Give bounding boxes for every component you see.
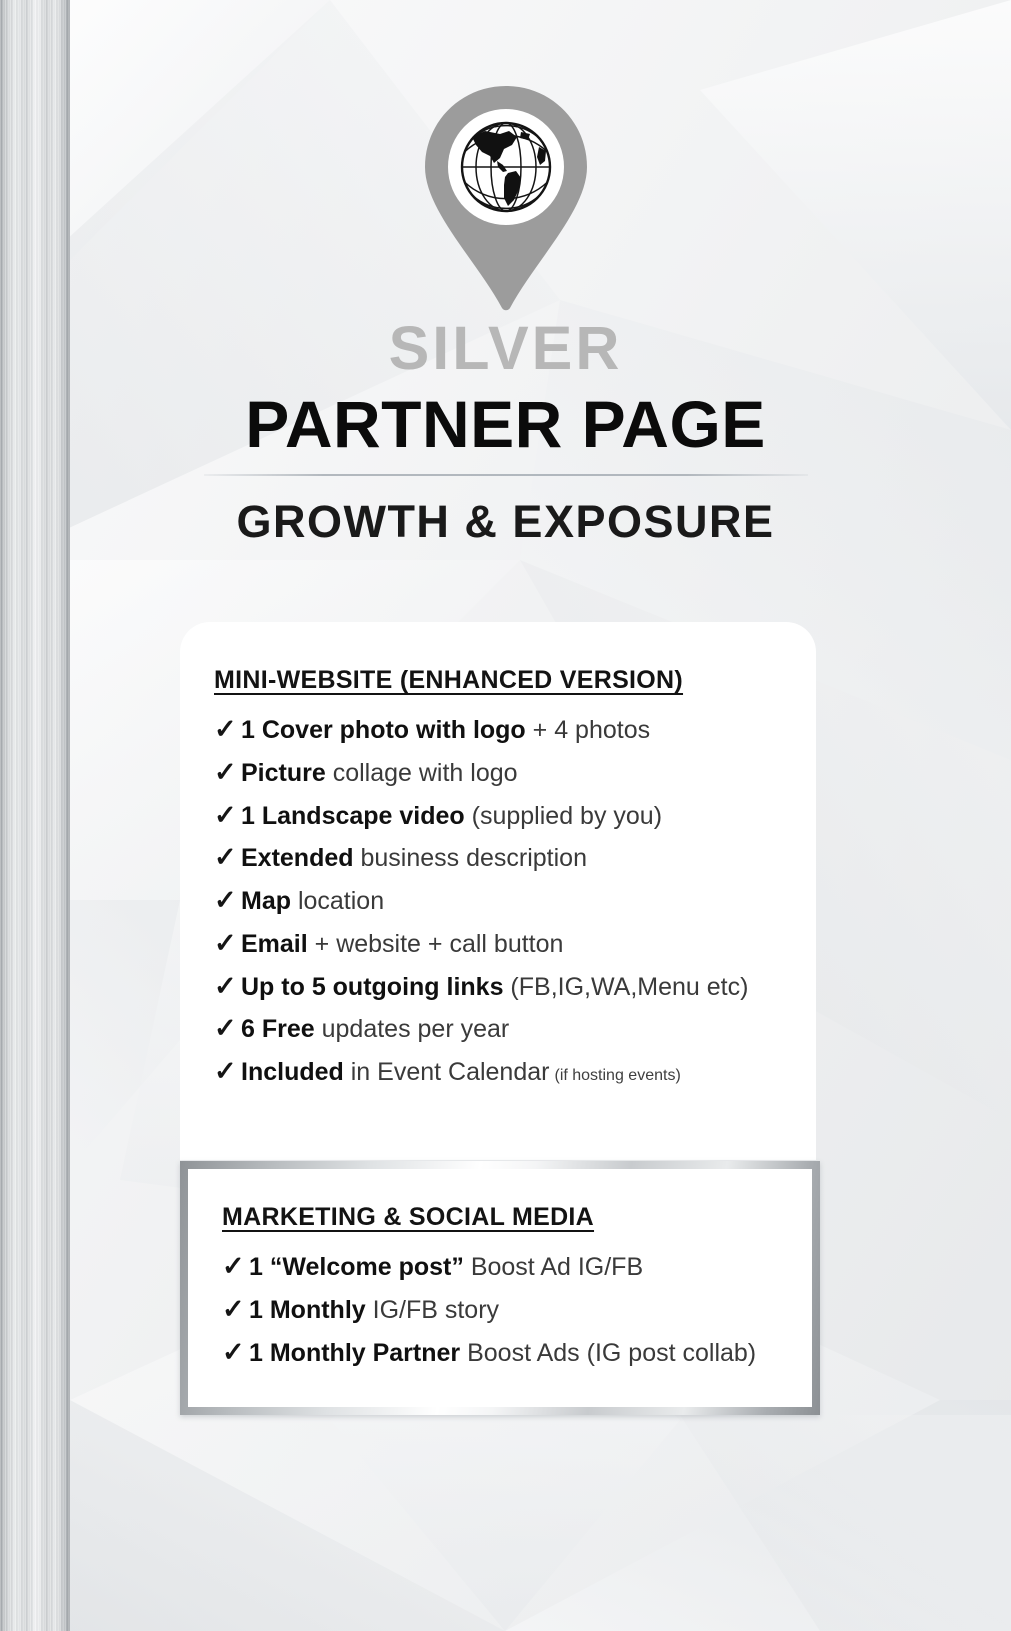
feature-rest: Boost Ads (IG post collab) [460, 1339, 756, 1367]
feature-strong: 1 Landscape video [241, 802, 465, 830]
list-item: ✓ Included in Event Calendar(if hosting … [214, 1051, 816, 1094]
feature-strong: 1 Monthly [249, 1296, 366, 1324]
page-title: PARTNER PAGE [0, 386, 1011, 464]
feature-strong: Map [241, 887, 291, 915]
mini-website-card: MINI-WEBSITE (ENHANCED VERSION) ✓ 1 Cove… [180, 622, 816, 1160]
marketing-card-frame: MARKETING & SOCIAL MEDIA ✓ 1 “Welcome po… [180, 1161, 820, 1415]
feature-strong: Picture [241, 759, 326, 787]
feature-rest: updates per year [315, 1015, 510, 1043]
check-icon: ✓ [214, 930, 241, 957]
feature-rest: (FB,IG,WA,Menu etc) [503, 973, 748, 1001]
map-pin-globe-icon [406, 82, 606, 314]
check-icon: ✓ [214, 887, 241, 914]
feature-rest: + website + call button [308, 930, 564, 958]
feature-strong: 1 Cover photo with logo [241, 716, 526, 744]
mini-website-feature-list: ✓ 1 Cover photo with logo + 4 photos ✓ P… [180, 709, 816, 1094]
feature-note: (if hosting events) [549, 1067, 680, 1084]
check-icon: ✓ [214, 844, 241, 871]
list-item: ✓ Up to 5 outgoing links (FB,IG,WA,Menu … [214, 966, 816, 1009]
check-icon: ✓ [222, 1253, 249, 1280]
list-item: ✓ 1 Landscape video (supplied by you) [214, 795, 816, 838]
feature-strong: 1 Monthly Partner [249, 1339, 460, 1367]
check-icon: ✓ [222, 1296, 249, 1323]
title-block: SILVER PARTNER PAGE GROWTH & EXPOSURE [0, 316, 1011, 548]
check-icon: ✓ [214, 973, 241, 1000]
marketing-card: MARKETING & SOCIAL MEDIA ✓ 1 “Welcome po… [188, 1169, 812, 1407]
list-item: ✓ Map location [214, 880, 816, 923]
list-item: ✓ 1 “Welcome post” Boost Ad IG/FB [222, 1246, 812, 1289]
feature-rest: in Event Calendar [344, 1058, 550, 1086]
feature-strong: 1 “Welcome post” [249, 1253, 464, 1281]
page-subtitle: GROWTH & EXPOSURE [0, 496, 1011, 548]
feature-rest: location [291, 887, 384, 915]
list-item: ✓ 1 Monthly IG/FB story [222, 1289, 812, 1332]
feature-strong: Email [241, 930, 308, 958]
feature-rest: IG/FB story [366, 1296, 499, 1324]
list-item: ✓ Email + website + call button [214, 923, 816, 966]
feature-rest: business description [354, 844, 587, 872]
feature-rest: + 4 photos [526, 716, 650, 744]
check-icon: ✓ [222, 1339, 249, 1366]
feature-strong: 6 Free [241, 1015, 315, 1043]
title-divider [204, 474, 808, 476]
check-icon: ✓ [214, 759, 241, 786]
tier-name: SILVER [0, 316, 1011, 380]
list-item: ✓ Picture collage with logo [214, 752, 816, 795]
check-icon: ✓ [214, 1015, 241, 1042]
list-item: ✓ 1 Cover photo with logo + 4 photos [214, 709, 816, 752]
feature-rest: collage with logo [326, 759, 518, 787]
metallic-side-strip [0, 0, 70, 1631]
section-heading-mini-website: MINI-WEBSITE (ENHANCED VERSION) [214, 666, 816, 695]
feature-strong: Up to 5 outgoing links [241, 973, 503, 1001]
feature-rest: Boost Ad IG/FB [464, 1253, 643, 1281]
marketing-feature-list: ✓ 1 “Welcome post” Boost Ad IG/FB ✓ 1 Mo… [188, 1246, 812, 1374]
list-item: ✓ Extended business description [214, 837, 816, 880]
feature-strong: Included [241, 1058, 344, 1086]
check-icon: ✓ [214, 716, 241, 743]
feature-rest: (supplied by you) [465, 802, 662, 830]
section-heading-marketing: MARKETING & SOCIAL MEDIA [222, 1203, 812, 1232]
check-icon: ✓ [214, 802, 241, 829]
check-icon: ✓ [214, 1058, 241, 1085]
list-item: ✓ 1 Monthly Partner Boost Ads (IG post c… [222, 1332, 812, 1375]
silver-partner-page-poster: SILVER PARTNER PAGE GROWTH & EXPOSURE MI… [0, 0, 1011, 1631]
list-item: ✓ 6 Free updates per year [214, 1008, 816, 1051]
feature-strong: Extended [241, 844, 354, 872]
